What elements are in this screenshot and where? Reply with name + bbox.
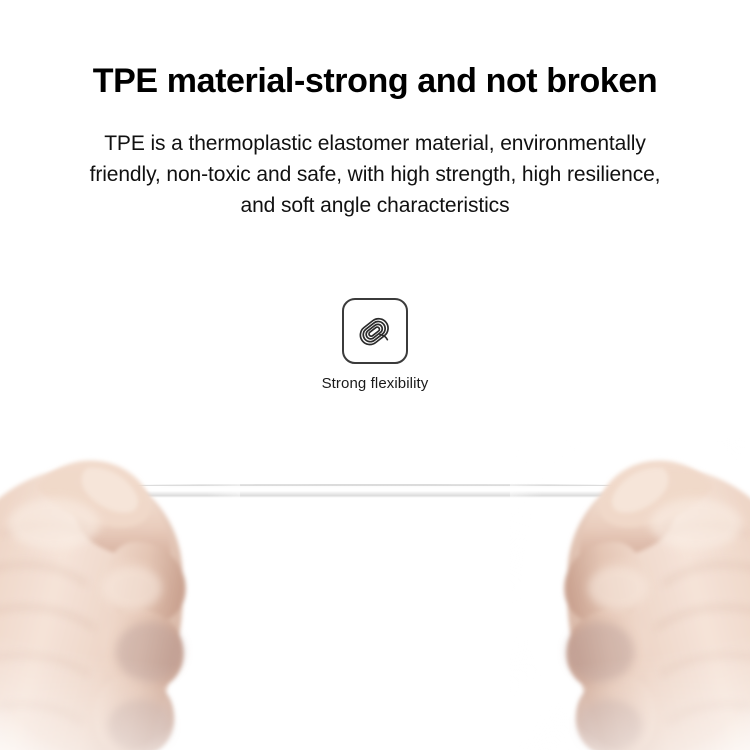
coiled-rope-icon: [352, 308, 398, 354]
feature-block: Strong flexibility: [0, 298, 750, 393]
description-text: TPE is a thermoplastic elastomer materia…: [35, 128, 715, 221]
left-hand: [0, 438, 240, 750]
product-banner: TPE material-strong and not broken TPE i…: [0, 0, 750, 750]
description-line-3: and soft angle characteristics: [35, 190, 715, 221]
description-line-1: TPE is a thermoplastic elastomer materia…: [35, 128, 715, 159]
feature-icon-box: [342, 298, 408, 364]
product-photo: [0, 430, 750, 750]
page-title: TPE material-strong and not broken: [0, 58, 750, 104]
right-hand: [510, 438, 750, 750]
feature-caption: Strong flexibility: [322, 375, 429, 393]
description-line-2: friendly, non-toxic and safe, with high …: [35, 159, 715, 190]
